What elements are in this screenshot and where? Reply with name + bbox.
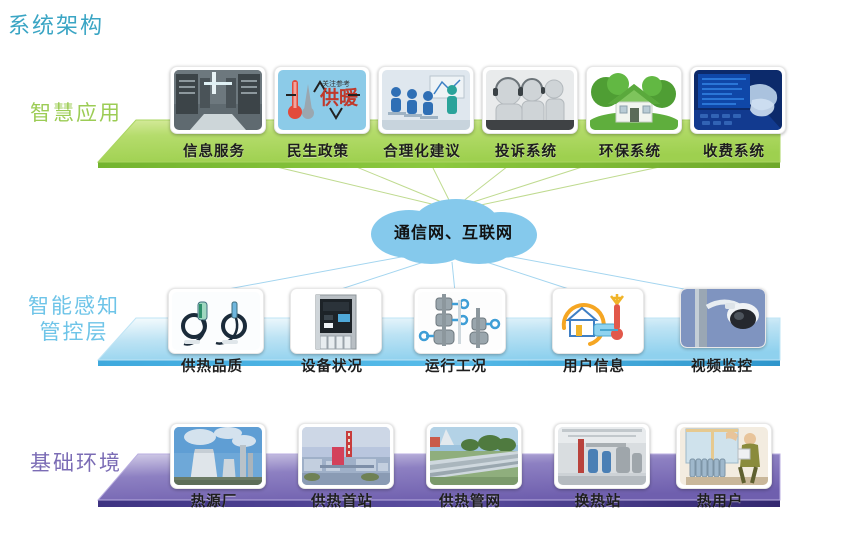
app-card-environment[interactable] [586, 66, 682, 134]
infrastructure-layer-label: 基础环境 [30, 450, 122, 476]
page-title: 系统架构 [8, 8, 104, 40]
perc-caption-heat-quality: 供热品质 [168, 355, 256, 376]
laptop-typing-hands-icon [694, 70, 782, 130]
app-caption-environment: 环保系统 [586, 140, 674, 161]
infra-caption-heat-source: 热源厂 [170, 490, 258, 511]
infra-card-pipeline[interactable] [426, 423, 522, 489]
green-house-eco-icon [590, 70, 678, 130]
temperature-sensor-probe-icon [172, 292, 260, 350]
infra-caption-first-station: 供热首站 [291, 490, 393, 511]
cctv-dome-camera-icon [681, 289, 765, 347]
svg-text:供暖: 供暖 [319, 86, 359, 109]
infra-caption-heat-user: 热用户 [676, 490, 764, 511]
heating-first-station-icon [302, 427, 390, 485]
app-caption-info-service: 信息服务 [170, 140, 258, 161]
network-cloud[interactable]: 通信网、互联网 [361, 198, 546, 264]
infra-card-heat-source[interactable] [170, 423, 266, 489]
control-cabinet-icon [294, 292, 378, 350]
call-center-headset-icon [486, 70, 574, 130]
infra-card-heat-user[interactable] [676, 423, 772, 489]
valve-manifold-icon [418, 292, 502, 350]
server-room-icon [174, 70, 262, 130]
app-card-policy[interactable]: 关注参考 供暖 [274, 66, 370, 134]
house-thermometer-meter-icon [556, 292, 640, 350]
application-layer-label: 智慧应用 [30, 100, 122, 126]
heat-exchange-station-icon [558, 427, 646, 485]
infra-card-exchange-station[interactable] [554, 423, 650, 489]
radiator-user-icon [680, 427, 768, 485]
power-plant-cooling-tower-icon [174, 427, 262, 485]
app-card-billing[interactable] [690, 66, 786, 134]
app-card-info-service[interactable] [170, 66, 266, 134]
app-card-suggestion[interactable] [378, 66, 474, 134]
infra-card-first-station[interactable] [298, 423, 394, 489]
perc-caption-video-monitor: 视频监控 [680, 355, 764, 376]
perception-layer-label-line-2: 管控层 [28, 319, 120, 345]
application-layer-label-line-1: 智慧应用 [30, 100, 122, 126]
pipeline-network-icon [430, 427, 518, 485]
perc-card-heat-quality[interactable] [168, 288, 264, 354]
perc-card-operation[interactable] [414, 288, 506, 354]
app-caption-policy: 民生政策 [274, 140, 362, 161]
app-caption-complaint: 投诉系统 [482, 140, 570, 161]
infrastructure-layer-label-line-1: 基础环境 [30, 450, 122, 476]
perc-card-device-status[interactable] [290, 288, 382, 354]
infra-caption-exchange-station: 换热站 [554, 490, 642, 511]
app-card-complaint[interactable] [482, 66, 578, 134]
perception-layer-label: 智能感知 管控层 [28, 293, 120, 346]
network-cloud-label: 通信网、互联网 [361, 198, 546, 264]
meeting-classroom-icon [382, 70, 470, 130]
svg-text:关注参考: 关注参考 [322, 79, 350, 88]
app-caption-billing: 收费系统 [690, 140, 778, 161]
perception-layer-label-line-1: 智能感知 [28, 293, 120, 319]
system-architecture-diagram: 系统架构 [0, 0, 850, 541]
perc-card-user-info[interactable] [552, 288, 644, 354]
infra-caption-pipeline: 供热管网 [419, 490, 521, 511]
perc-caption-device-status: 设备状况 [290, 355, 374, 376]
app-caption-suggestion: 合理化建议 [371, 140, 473, 161]
perc-caption-operation: 运行工况 [414, 355, 498, 376]
heating-policy-poster-icon: 关注参考 供暖 [278, 70, 366, 130]
perc-caption-user-info: 用户信息 [552, 355, 636, 376]
perc-card-video-monitor[interactable] [680, 288, 766, 348]
